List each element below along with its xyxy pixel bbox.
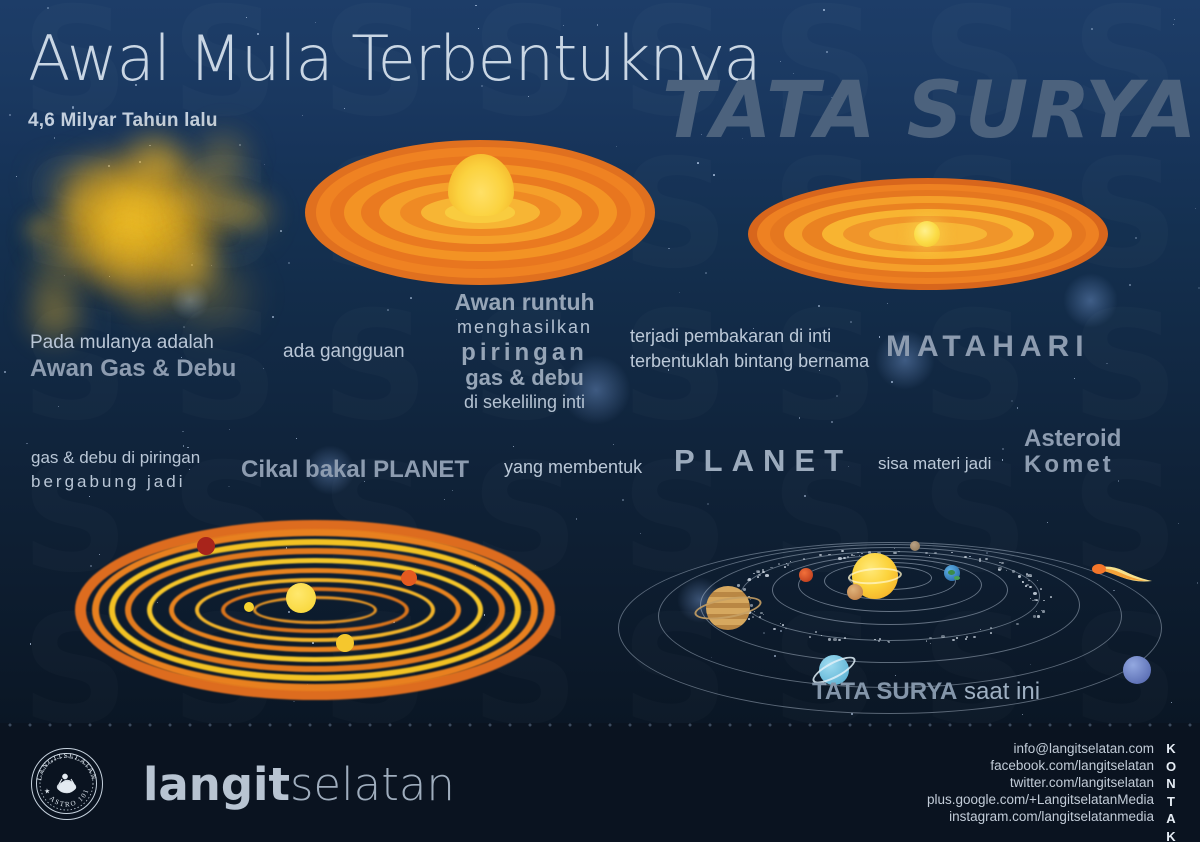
asteroid (888, 641, 890, 643)
asteroid (828, 638, 831, 640)
nebula-wisp (177, 138, 248, 209)
star (1106, 363, 1107, 364)
planetesimal-right (401, 570, 417, 586)
star (9, 114, 11, 116)
asteroid (1030, 576, 1032, 577)
contact-email[interactable]: info@langitselatan.com (927, 740, 1154, 757)
star (89, 496, 90, 497)
label-tata-surya-saat-ini: TATA SURYA saat ini (812, 678, 1040, 706)
asteroid (748, 618, 750, 620)
contact-list: info@langitselatan.com facebook.com/lang… (927, 740, 1154, 825)
asteroid (765, 574, 769, 577)
star (344, 108, 345, 109)
asteroid (844, 637, 846, 639)
planet-merkurius (910, 541, 920, 551)
star (444, 499, 445, 500)
label-protoplanet: Cikal bakal PLANET (241, 456, 469, 484)
protoplanetary-rings-illustration (75, 520, 555, 700)
asteroid (1030, 598, 1031, 599)
asteroid (737, 584, 741, 587)
comet (1092, 563, 1154, 583)
newborn-star (914, 221, 940, 247)
asteroid (778, 563, 780, 565)
star (1002, 459, 1003, 460)
page-title: Awal Mula Terbentuknya (28, 22, 761, 95)
infographic-poster: SSSSSSSSSSSSSSSSSSSSSSSSSSSSSSSSSSSSSSSS… (0, 0, 1200, 842)
star (26, 443, 27, 444)
asteroid (847, 556, 849, 557)
star (887, 303, 888, 304)
asteroid (838, 557, 842, 560)
planetesimal-inner (244, 602, 254, 612)
star (302, 115, 303, 116)
star (831, 421, 833, 423)
contact-googleplus[interactable]: plus.google.com/+LangitselatanMedia (927, 791, 1154, 808)
earth-landmass (946, 567, 962, 583)
star (387, 309, 389, 311)
watermark-tile: S (300, 304, 450, 456)
asteroid (925, 552, 928, 554)
label-leftover-material: sisa materi jadi (878, 454, 991, 474)
asteroid (951, 552, 953, 553)
gas-dust-cloud-illustration (18, 118, 263, 328)
star (293, 701, 294, 702)
star (668, 248, 670, 250)
label-gas-dust-cloud: Pada mulanya adalah Awan Gas & Debu (30, 330, 280, 382)
star (879, 336, 881, 338)
star (713, 174, 715, 176)
star (229, 429, 230, 430)
contact-facebook[interactable]: facebook.com/langitselatan (927, 757, 1154, 774)
star (264, 164, 265, 165)
star (513, 446, 514, 447)
star (1091, 28, 1092, 29)
asteroid (1012, 570, 1016, 573)
star (1074, 378, 1075, 379)
star (697, 162, 699, 164)
planet-venus (847, 584, 863, 600)
star (818, 305, 820, 307)
asteroid (756, 570, 760, 573)
star (288, 262, 290, 264)
star (799, 417, 800, 418)
star (1017, 407, 1018, 408)
asteroid (784, 566, 786, 568)
asteroid (1032, 600, 1033, 601)
nebula-wisp (20, 243, 85, 321)
star (823, 9, 825, 11)
star (826, 51, 828, 53)
big-title-tata-surya: TATA SURYA (662, 66, 1199, 156)
star (1174, 19, 1175, 20)
nebula-wisp (152, 236, 224, 293)
planetesimal-upper (197, 537, 215, 555)
footer-divider (0, 723, 1200, 727)
asteroid (990, 627, 992, 629)
asteroid (929, 637, 931, 639)
kontak-vertical-label: KONTAK (1162, 740, 1180, 842)
asteroid (1040, 588, 1042, 590)
asteroid (1029, 586, 1032, 588)
nebula-wisp (107, 212, 141, 293)
asteroid (1037, 615, 1040, 617)
protostellar-disk-illustration (305, 140, 655, 285)
label-matahari: MATAHARI (886, 330, 1090, 364)
asteroid (747, 579, 749, 581)
star (1002, 448, 1004, 450)
asteroid (787, 564, 789, 566)
star (1135, 237, 1136, 238)
star (780, 61, 781, 62)
asteroid (838, 639, 841, 641)
star (452, 490, 453, 491)
asteroid (743, 588, 746, 591)
star (622, 499, 624, 501)
label-disturbance: ada gangguan (283, 341, 405, 363)
star (679, 292, 680, 293)
star (272, 316, 274, 318)
asteroid (833, 638, 837, 641)
star (1118, 480, 1119, 481)
asteroid (1036, 611, 1037, 612)
asteroid (934, 552, 937, 554)
star (16, 176, 17, 177)
star (182, 431, 184, 433)
star (1195, 208, 1196, 209)
asteroid (753, 573, 754, 574)
langitselatan-logo: LANGITSELATAN ★ ASTRO 101 (31, 748, 103, 820)
label-forming: yang membentuk (504, 457, 642, 478)
star (30, 643, 32, 645)
star (1173, 24, 1174, 25)
planetesimal-lower (336, 634, 354, 652)
asteroid (759, 616, 761, 618)
asteroid (815, 631, 817, 632)
contact-twitter[interactable]: twitter.com/langitselatan (927, 774, 1154, 791)
star (528, 96, 529, 97)
label-accretion: gas & debu di piringan bergabung jadi (31, 446, 231, 494)
star (72, 106, 74, 108)
asteroid (1033, 592, 1037, 595)
asteroid (941, 635, 944, 638)
star (296, 438, 297, 439)
proto-sun (286, 583, 316, 613)
star (47, 7, 49, 9)
star (891, 381, 893, 383)
star (576, 518, 577, 519)
star (4, 371, 6, 373)
asteroid (1036, 599, 1037, 600)
nebula-wisp (99, 181, 183, 207)
star (1011, 400, 1013, 402)
asteroid (1018, 575, 1022, 578)
brand-wordmark: langitselatan (143, 758, 455, 811)
star (613, 444, 614, 445)
star (246, 17, 247, 18)
asteroid (1033, 615, 1036, 617)
asteroid (926, 640, 927, 641)
label-asteroid-komet: Asteroid Komet (1024, 426, 1121, 478)
planet-mars (799, 568, 813, 582)
star (836, 395, 838, 397)
label-planet: PLANET (674, 443, 852, 479)
asteroid (956, 637, 958, 638)
label-cloud-collapse: Awan runtuh menghasilkan piringan gas & … (432, 290, 617, 415)
star (705, 272, 707, 274)
star-with-disk-illustration (748, 178, 1108, 290)
asteroid (819, 554, 821, 556)
asteroid (760, 612, 762, 614)
star (58, 406, 59, 407)
planet-neptunus (1123, 656, 1151, 684)
star (1129, 284, 1131, 286)
star (475, 5, 476, 6)
star (850, 321, 852, 323)
star (410, 297, 412, 299)
label-core-fusion: terjadi pembakaran di inti terbentuklah … (630, 324, 870, 374)
contact-instagram[interactable]: instagram.com/langitselatanmedia (927, 808, 1154, 825)
